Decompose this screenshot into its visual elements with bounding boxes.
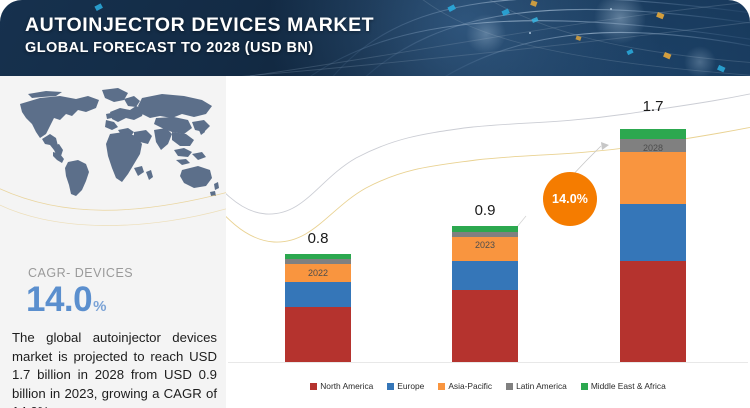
legend-label-asia-pacific: Asia-Pacific <box>448 381 492 391</box>
callout-arrowhead <box>601 142 609 150</box>
bar-total-label-2028: 1.7 <box>620 98 686 115</box>
chart-plot-area: 0.8 2022 0.9 2023 1.7 <box>226 76 750 408</box>
bar-total-label-2022: 0.8 <box>285 230 351 247</box>
segment-europe-2023 <box>452 261 518 290</box>
panel-decoration-curves <box>0 176 226 246</box>
bar-group-2023: 0.9 2023 <box>452 226 518 362</box>
page-subtitle: GLOBAL FORECAST TO 2028 (USD BN) <box>25 38 374 58</box>
legend-item-latin-america[interactable]: Latin America <box>506 381 567 391</box>
legend-swatch-latin-america <box>506 383 513 390</box>
cagr-value: 14.0 <box>26 280 92 320</box>
legend-item-europe[interactable]: Europe <box>387 381 424 391</box>
segment-middle-east-africa-2028 <box>620 129 686 139</box>
segment-asia-pacific-2028 <box>620 152 686 204</box>
legend-item-north-america[interactable]: North America <box>310 381 373 391</box>
x-axis-label-2022: 2022 <box>285 268 351 278</box>
legend-label-europe: Europe <box>397 381 424 391</box>
header-text-block: AUTOINJECTOR DEVICES MARKET GLOBAL FOREC… <box>25 13 374 58</box>
chart-legend: North America Europe Asia-Pacific Latin … <box>226 378 750 394</box>
legend-swatch-north-america <box>310 383 317 390</box>
x-axis-label-2023: 2023 <box>452 240 518 250</box>
segment-north-america-2028 <box>620 261 686 362</box>
cagr-bubble-label: 14.0% <box>552 192 588 206</box>
cagr-value-row: 14.0 % <box>26 280 106 320</box>
legend-label-latin-america: Latin America <box>516 381 567 391</box>
bar-group-2022: 0.8 2022 <box>285 254 351 362</box>
segment-north-america-2023 <box>452 290 518 362</box>
legend-swatch-europe <box>387 383 394 390</box>
segment-north-america-2022 <box>285 307 351 362</box>
legend-item-middle-east-africa[interactable]: Middle East & Africa <box>581 381 666 391</box>
cagr-percent-symbol: % <box>93 298 106 315</box>
legend-swatch-asia-pacific <box>438 383 445 390</box>
stacked-bar-2028[interactable] <box>620 129 686 362</box>
market-description: The global autoinjector devices market i… <box>12 329 217 408</box>
left-summary-panel: CAGR- DEVICES 14.0 % The global autoinje… <box>0 76 226 408</box>
legend-swatch-middle-east-africa <box>581 383 588 390</box>
segment-europe-2028 <box>620 204 686 261</box>
bar-total-label-2023: 0.9 <box>452 202 518 219</box>
cagr-bubble-badge: 14.0% <box>543 172 597 226</box>
legend-label-north-america: North America <box>320 381 373 391</box>
cagr-label: CAGR- DEVICES <box>28 266 133 280</box>
segment-europe-2022 <box>285 282 351 307</box>
header-banner: AUTOINJECTOR DEVICES MARKET GLOBAL FOREC… <box>0 0 750 76</box>
legend-label-middle-east-africa: Middle East & Africa <box>591 381 666 391</box>
axis-baseline <box>228 362 748 363</box>
x-axis-label-2028: 2028 <box>620 143 686 153</box>
legend-item-asia-pacific[interactable]: Asia-Pacific <box>438 381 492 391</box>
page-title: AUTOINJECTOR DEVICES MARKET <box>25 13 374 38</box>
bar-group-2028: 1.7 2028 <box>620 129 686 362</box>
infographic-root: AUTOINJECTOR DEVICES MARKET GLOBAL FOREC… <box>0 0 750 408</box>
